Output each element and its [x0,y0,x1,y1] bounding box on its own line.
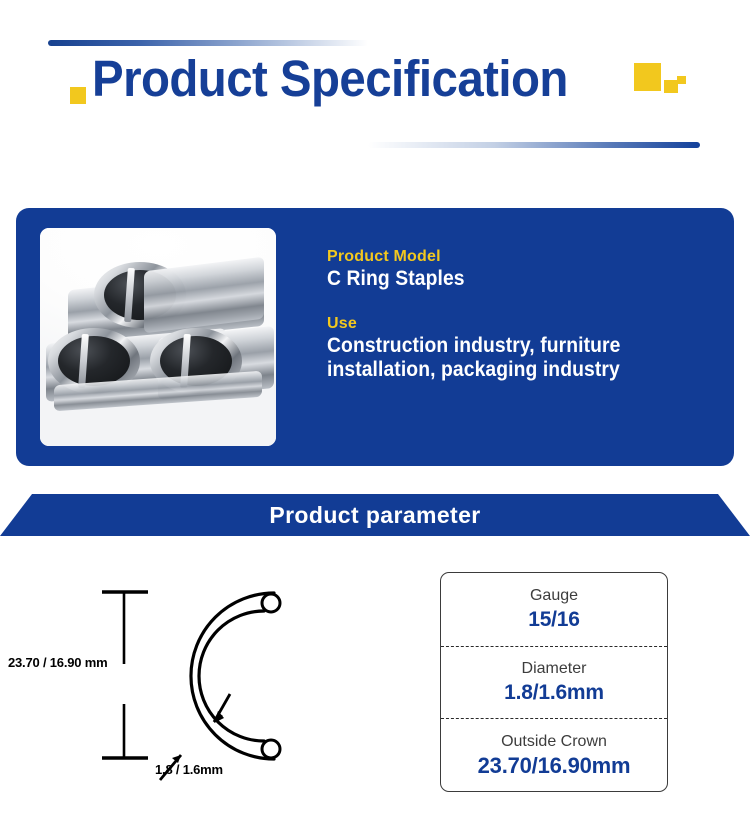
field-label-use: Use [327,314,712,334]
spec-label-outside-crown: Outside Crown [501,731,607,752]
crown-dimension-label: 23.70 / 16.90 mm [8,655,107,670]
field-value-use: Construction industry, furniture install… [327,334,681,382]
decor-square-medium-icon [664,80,678,93]
decor-square-large-icon [634,63,661,91]
c-ring-svg [52,566,402,801]
header-top-gradient-bar [48,40,368,46]
c-ring-technical-drawing [52,566,402,801]
field-label-product-model: Product Model [327,247,712,267]
decor-square-small-icon [677,76,686,84]
product-photo-image [40,228,276,446]
field-use: Use Construction industry, furniture ins… [327,314,712,382]
wire-dimension-label: 1.8 / 1.6mm [155,762,223,777]
page-header: Product Specification [0,0,750,195]
page-title: Product Specification [92,48,568,110]
banner-title: Product parameter [0,494,750,536]
product-photo [40,228,276,446]
title-accent-square-icon [70,87,86,104]
product-parameter-banner: Product parameter [0,494,750,536]
table-row: Gauge 15/16 [441,573,667,646]
field-value-product-model: C Ring Staples [327,267,681,291]
spec-value-outside-crown: 23.70/16.90mm [478,752,631,779]
field-product-model: Product Model C Ring Staples [327,247,712,291]
product-info-card: Product Model C Ring Staples Use Constru… [16,208,734,466]
header-bottom-gradient-bar [368,142,700,148]
specification-table: Gauge 15/16 Diameter 1.8/1.6mm Outside C… [440,572,668,792]
table-row: Diameter 1.8/1.6mm [441,646,667,719]
product-fields: Product Model C Ring Staples Use Constru… [327,247,712,382]
spec-label-gauge: Gauge [530,585,578,606]
table-row: Outside Crown 23.70/16.90mm [441,718,667,791]
spec-value-gauge: 15/16 [528,606,580,633]
spec-label-diameter: Diameter [522,658,587,679]
spec-value-diameter: 1.8/1.6mm [504,679,604,706]
